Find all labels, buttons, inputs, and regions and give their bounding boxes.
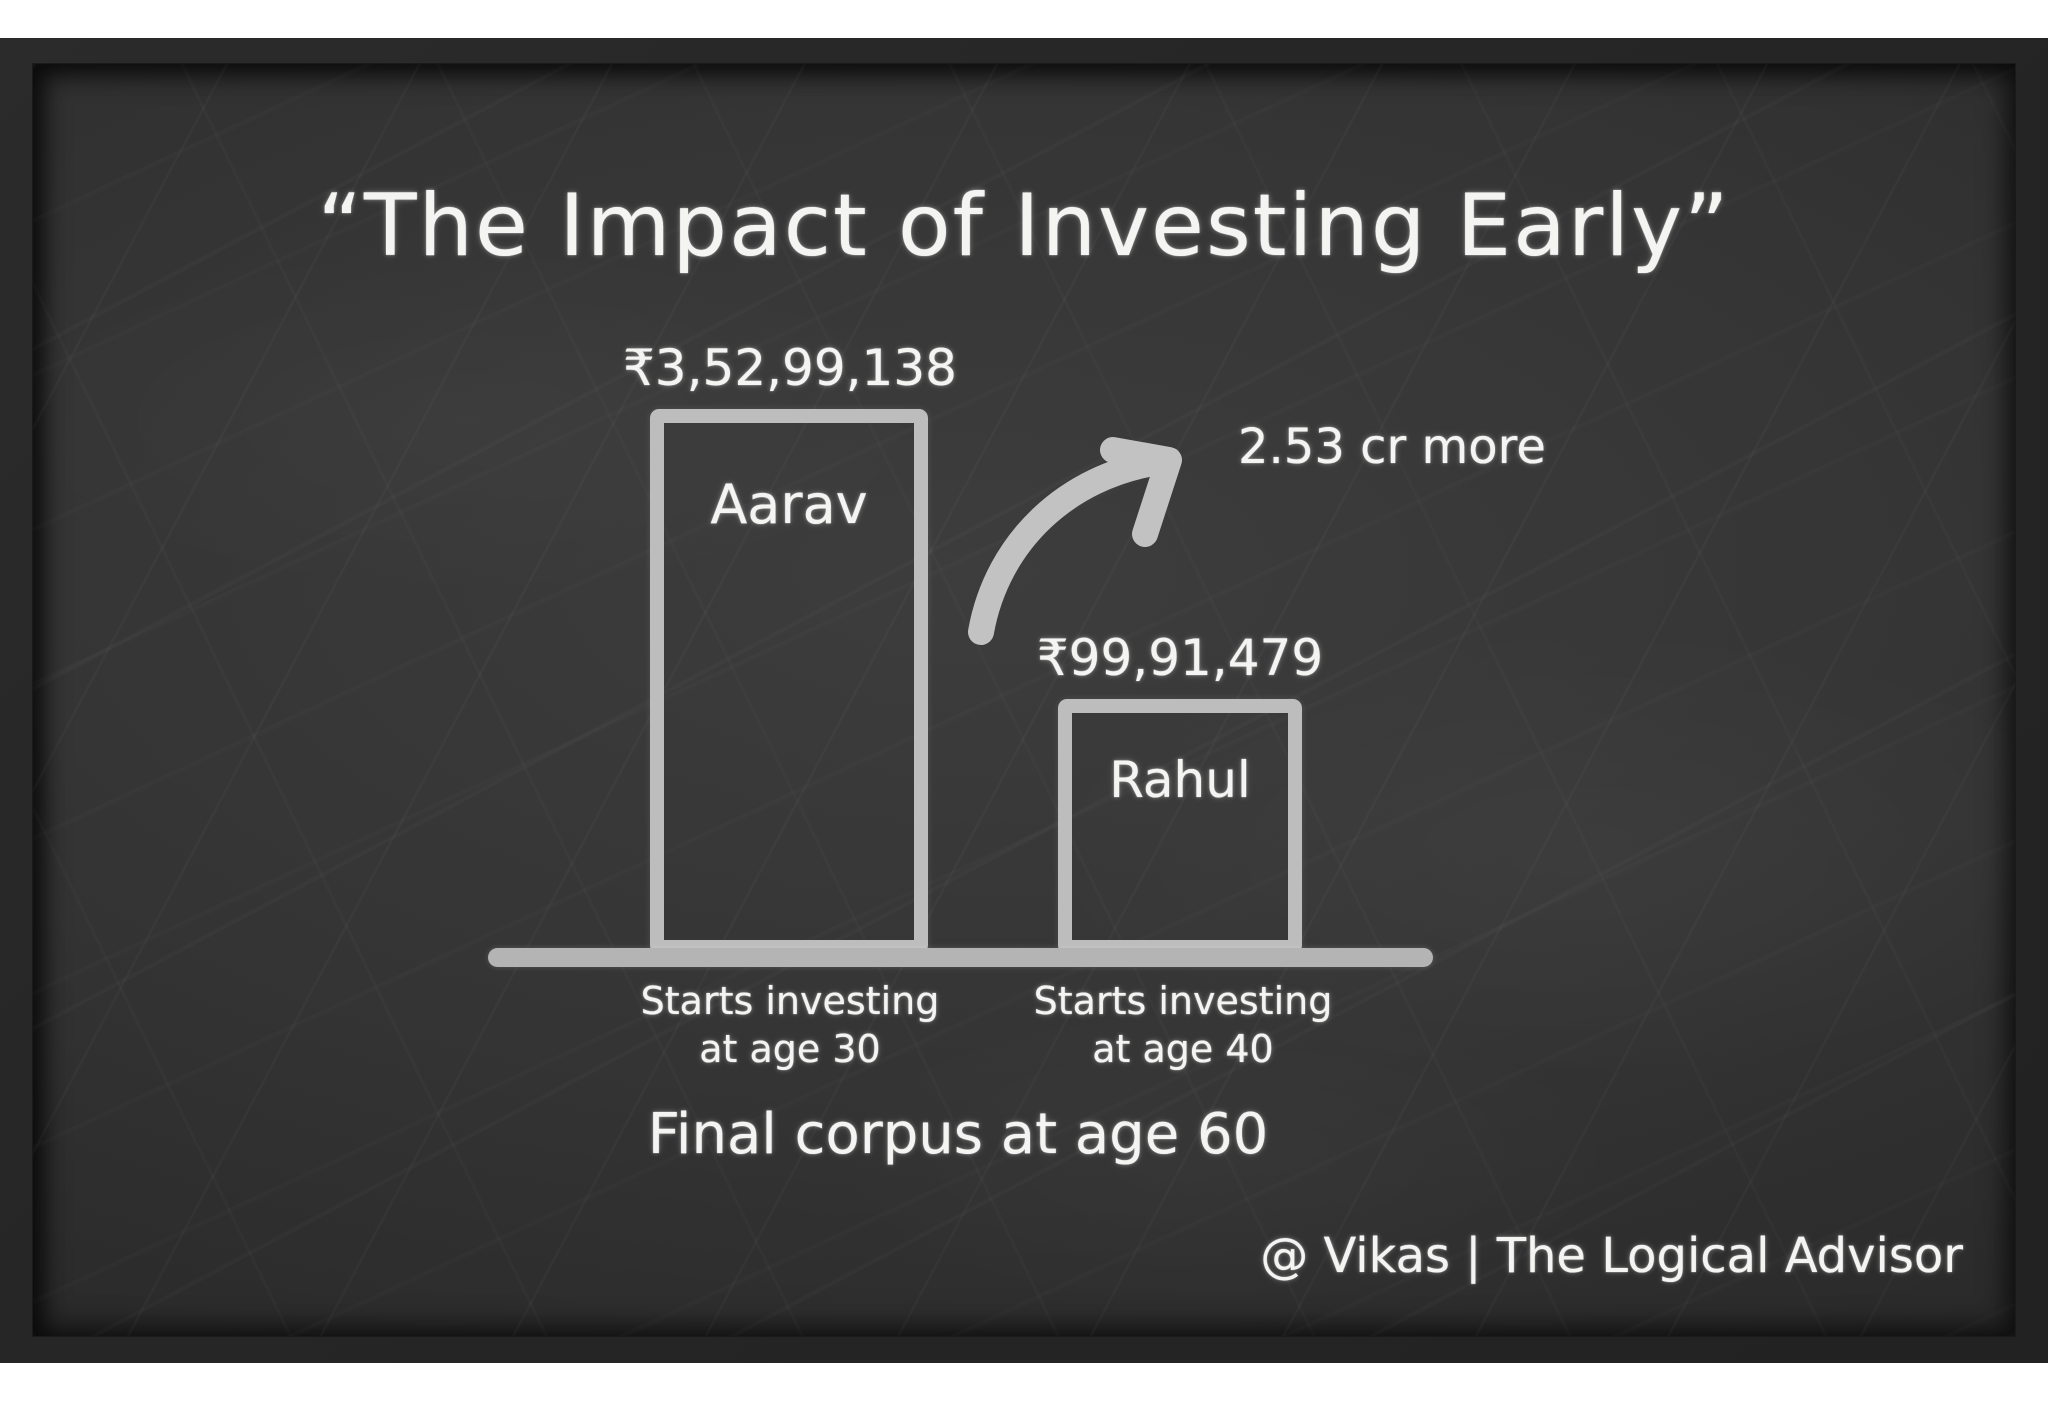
chart-caption: Final corpus at age 60 <box>458 1102 1458 1167</box>
blackboard-surface: “The Impact of Investing Early” ₹3,52,99… <box>33 64 2015 1336</box>
bar-label-rahul: Rahul <box>1072 751 1288 809</box>
bar-label-aarav: Aarav <box>664 473 914 536</box>
axis-caption-rahul: Starts investing at age 40 <box>938 978 1428 1074</box>
bar-aarav: Aarav <box>650 409 928 954</box>
bar-value-label-aarav: ₹3,52,99,138 <box>470 339 1110 397</box>
blackboard-frame: “The Impact of Investing Early” ₹3,52,99… <box>0 38 2048 1363</box>
chart-baseline <box>488 948 1433 967</box>
author-signature: @ Vikas | The Logical Advisor <box>1260 1228 1963 1284</box>
slide-canvas: “The Impact of Investing Early” ₹3,52,99… <box>0 0 2048 1423</box>
delta-annotation-label: 2.53 cr more <box>1238 419 1546 475</box>
bar-rahul: Rahul <box>1058 699 1302 954</box>
curved-arrow-icon <box>963 414 1273 714</box>
bar-chart: ₹3,52,99,138 ₹99,91,479 Aarav Rahul <box>33 64 2015 1336</box>
